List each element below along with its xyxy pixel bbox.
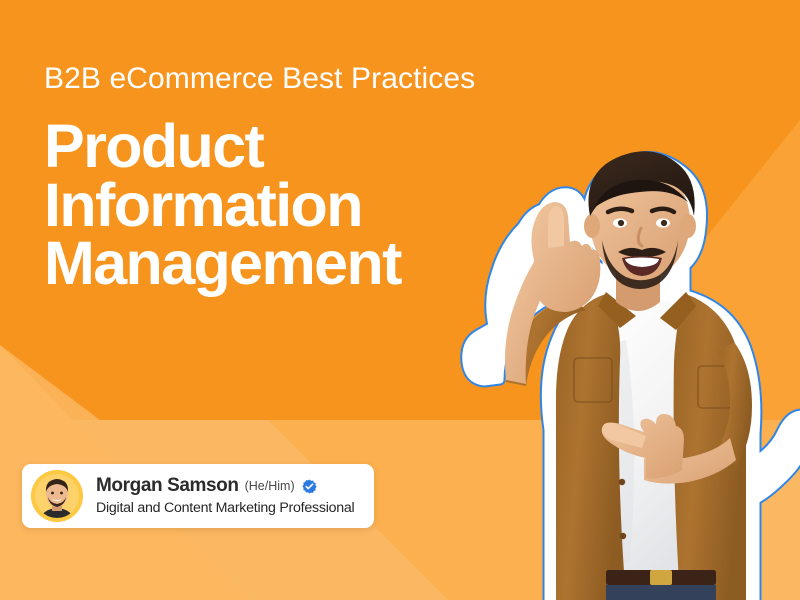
presenter-title: Digital and Content Marketing Profession…: [96, 500, 354, 517]
promo-graphic: B2B eCommerce Best Practices Product Inf…: [0, 0, 800, 600]
person-cutout-image: [430, 130, 800, 600]
pupil-right: [661, 220, 667, 226]
namecard-text-block: Morgan Samson (He/Him) Digital and Conte…: [96, 475, 354, 516]
presenter-name: Morgan Samson: [96, 475, 239, 497]
shirt-button: [620, 533, 626, 539]
avatar: [31, 470, 83, 522]
belt-buckle: [650, 570, 672, 585]
pupil-left: [618, 220, 624, 226]
eyebrow-text: B2B eCommerce Best Practices: [44, 62, 514, 95]
ear: [680, 214, 696, 238]
ear: [584, 214, 600, 238]
shirt-left-panel: [556, 294, 626, 600]
pointing-up-finger: [548, 206, 564, 248]
avatar-eye: [60, 492, 63, 495]
verified-badge-icon: [302, 479, 317, 494]
shirt-button: [619, 479, 625, 485]
presenter-name-card[interactable]: Morgan Samson (He/Him) Digital and Conte…: [22, 464, 374, 528]
presenter-pronouns: (He/Him): [245, 479, 295, 494]
jeans: [606, 585, 716, 600]
name-row: Morgan Samson (He/Him): [96, 475, 354, 497]
avatar-eye: [51, 492, 54, 495]
